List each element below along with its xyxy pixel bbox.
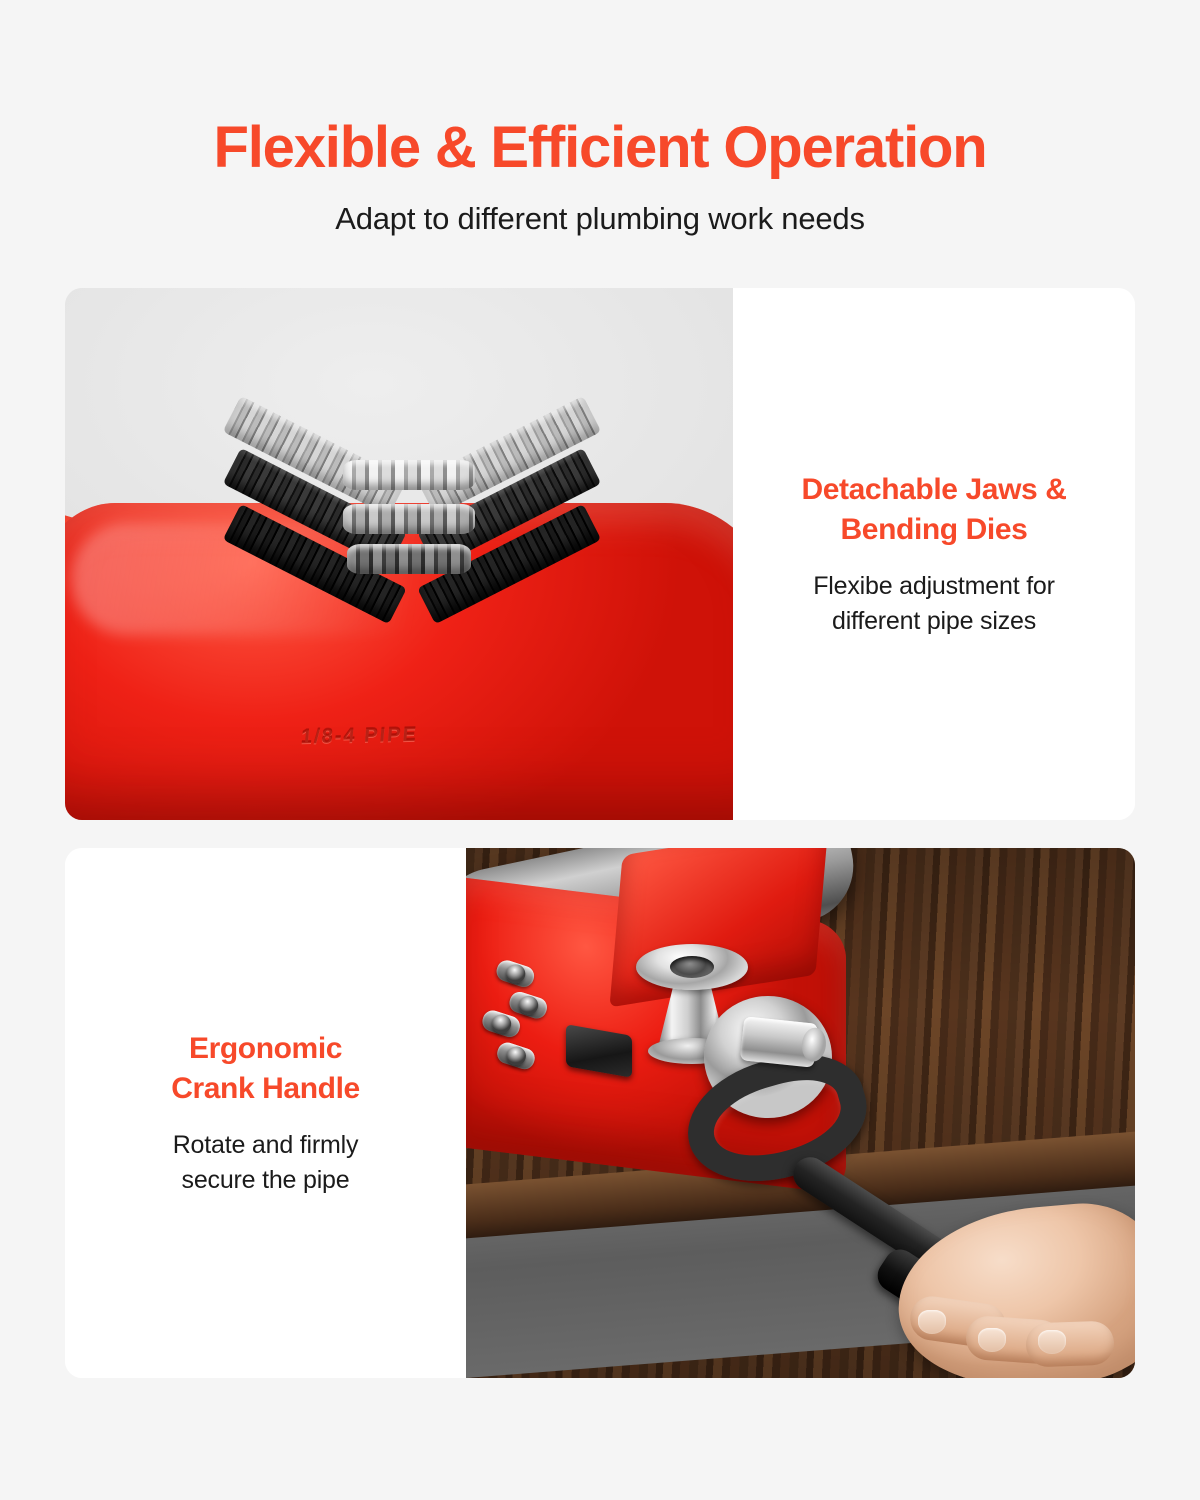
fingernail xyxy=(1038,1330,1066,1354)
handle-hex-nut xyxy=(740,1016,818,1067)
page-title: Flexible & Efficient Operation xyxy=(0,118,1200,179)
fingernail xyxy=(918,1310,946,1334)
detachable-jaws-photo: 1/8-4 PIPE xyxy=(65,288,733,820)
bending-die-insert xyxy=(343,460,475,490)
fingernail xyxy=(978,1328,1006,1352)
feature-desc-line-1: Flexibe adjustment for xyxy=(813,572,1055,600)
feature-description: Flexibe adjustment for different pipe si… xyxy=(813,569,1055,638)
feature-desc-line-2: different pipe sizes xyxy=(832,607,1036,635)
feature-title-line-1: Ergonomic xyxy=(189,1032,342,1065)
detachable-jaws-text: Detachable Jaws & Bending Dies Flexibe a… xyxy=(733,288,1135,820)
feature-desc-line-1: Rotate and firmly xyxy=(173,1131,359,1159)
feature-title-line-1: Detachable Jaws & xyxy=(802,473,1067,506)
feature-title: Detachable Jaws & Bending Dies xyxy=(802,470,1067,550)
serrated-jaw-stack xyxy=(247,396,577,611)
die-bore-hole xyxy=(670,956,714,978)
feature-title: Ergonomic Crank Handle xyxy=(171,1029,360,1109)
crank-handle-photo xyxy=(466,848,1135,1378)
crank-handle-text: Ergonomic Crank Handle Rotate and firmly… xyxy=(65,848,466,1378)
header: Flexible & Efficient Operation Adapt to … xyxy=(0,0,1200,237)
bending-die-insert xyxy=(347,544,471,574)
feature-title-line-2: Crank Handle xyxy=(171,1072,360,1105)
feature-title-line-2: Bending Dies xyxy=(841,513,1028,546)
feature-card-ergonomic-crank-handle: Ergonomic Crank Handle Rotate and firmly… xyxy=(65,848,1135,1378)
feature-description: Rotate and firmly secure the pipe xyxy=(173,1128,359,1197)
feature-card-detachable-jaws: 1/8-4 PIPE xyxy=(65,288,1135,820)
page-subtitle: Adapt to different plumbing work needs xyxy=(0,201,1200,237)
vise-embossed-size-text: 1/8-4 PIPE xyxy=(300,724,419,749)
bending-die-insert xyxy=(343,504,475,534)
feature-desc-line-2: secure the pipe xyxy=(182,1166,350,1194)
